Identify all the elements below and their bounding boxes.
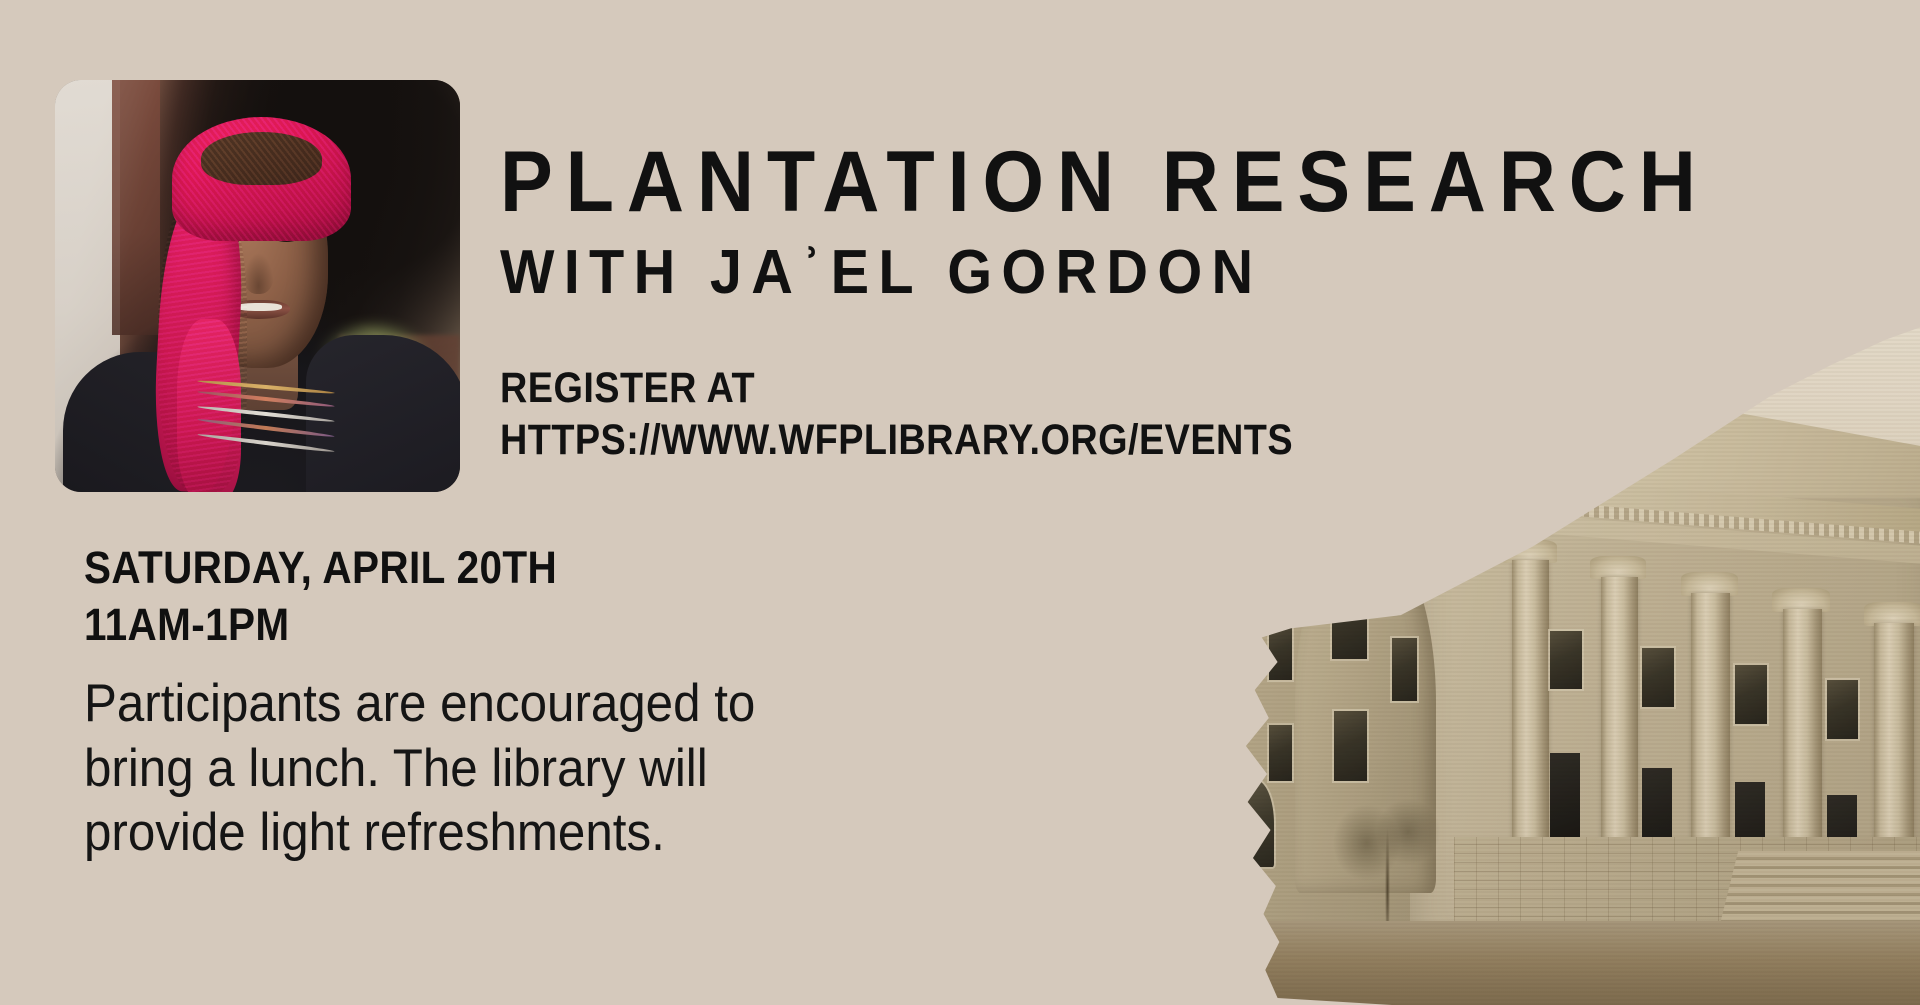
portrait-brick-left — [112, 80, 161, 335]
event-description: Participants are encouraged to bring a l… — [84, 672, 828, 866]
event-flyer: PLANTATION RESEARCH WITH JAʾEL GORDON RE… — [0, 0, 1920, 1005]
house-mid-cornice — [1225, 578, 1436, 595]
page-subtitle: WITH JAʾEL GORDON — [500, 242, 1793, 304]
house-bay-window — [1332, 585, 1367, 659]
house-window — [1269, 624, 1292, 680]
house-window — [1827, 680, 1859, 739]
event-details-block: SATURDAY, APRIL 20TH 11AM-1PM — [84, 540, 1044, 653]
headline-block: PLANTATION RESEARCH WITH JAʾEL GORDON — [500, 140, 1890, 304]
house-window — [1642, 648, 1674, 707]
house-basement-arch — [1172, 927, 1204, 994]
page-title: PLANTATION RESEARCH — [500, 140, 1779, 224]
house-doorway — [1550, 753, 1580, 841]
house-ground — [1040, 921, 1920, 1005]
portrait-headwrap-texture — [172, 117, 350, 241]
house-chimney-right — [1335, 491, 1358, 533]
event-time: 11AM-1PM — [84, 597, 948, 654]
house-bay-window — [1334, 711, 1367, 781]
portrait-nose — [243, 253, 273, 294]
register-label: REGISTER AT — [500, 362, 1380, 414]
portrait-shoulder-right — [306, 335, 460, 492]
house-window — [1550, 631, 1582, 690]
house-column — [1512, 560, 1549, 882]
house-arched-window — [1112, 771, 1149, 859]
event-date: SATURDAY, APRIL 20TH — [84, 540, 948, 597]
house-basement-arch — [1116, 925, 1148, 992]
speaker-portrait — [55, 80, 460, 492]
house-bay-cap — [1286, 519, 1444, 558]
house-chimney-left — [1110, 641, 1150, 704]
house-window — [1735, 665, 1767, 724]
house-arched-window — [1176, 775, 1213, 863]
registration-block: REGISTER AT HTTPS://WWW.WFPLIBRARY.ORG/E… — [500, 362, 1500, 467]
register-url[interactable]: HTTPS://WWW.WFPLIBRARY.ORG/EVENTS — [500, 414, 1380, 466]
house-window — [1269, 725, 1292, 781]
house-window — [1392, 638, 1417, 701]
house-arched-window — [1237, 780, 1274, 868]
house-basement-arch — [1225, 928, 1253, 995]
